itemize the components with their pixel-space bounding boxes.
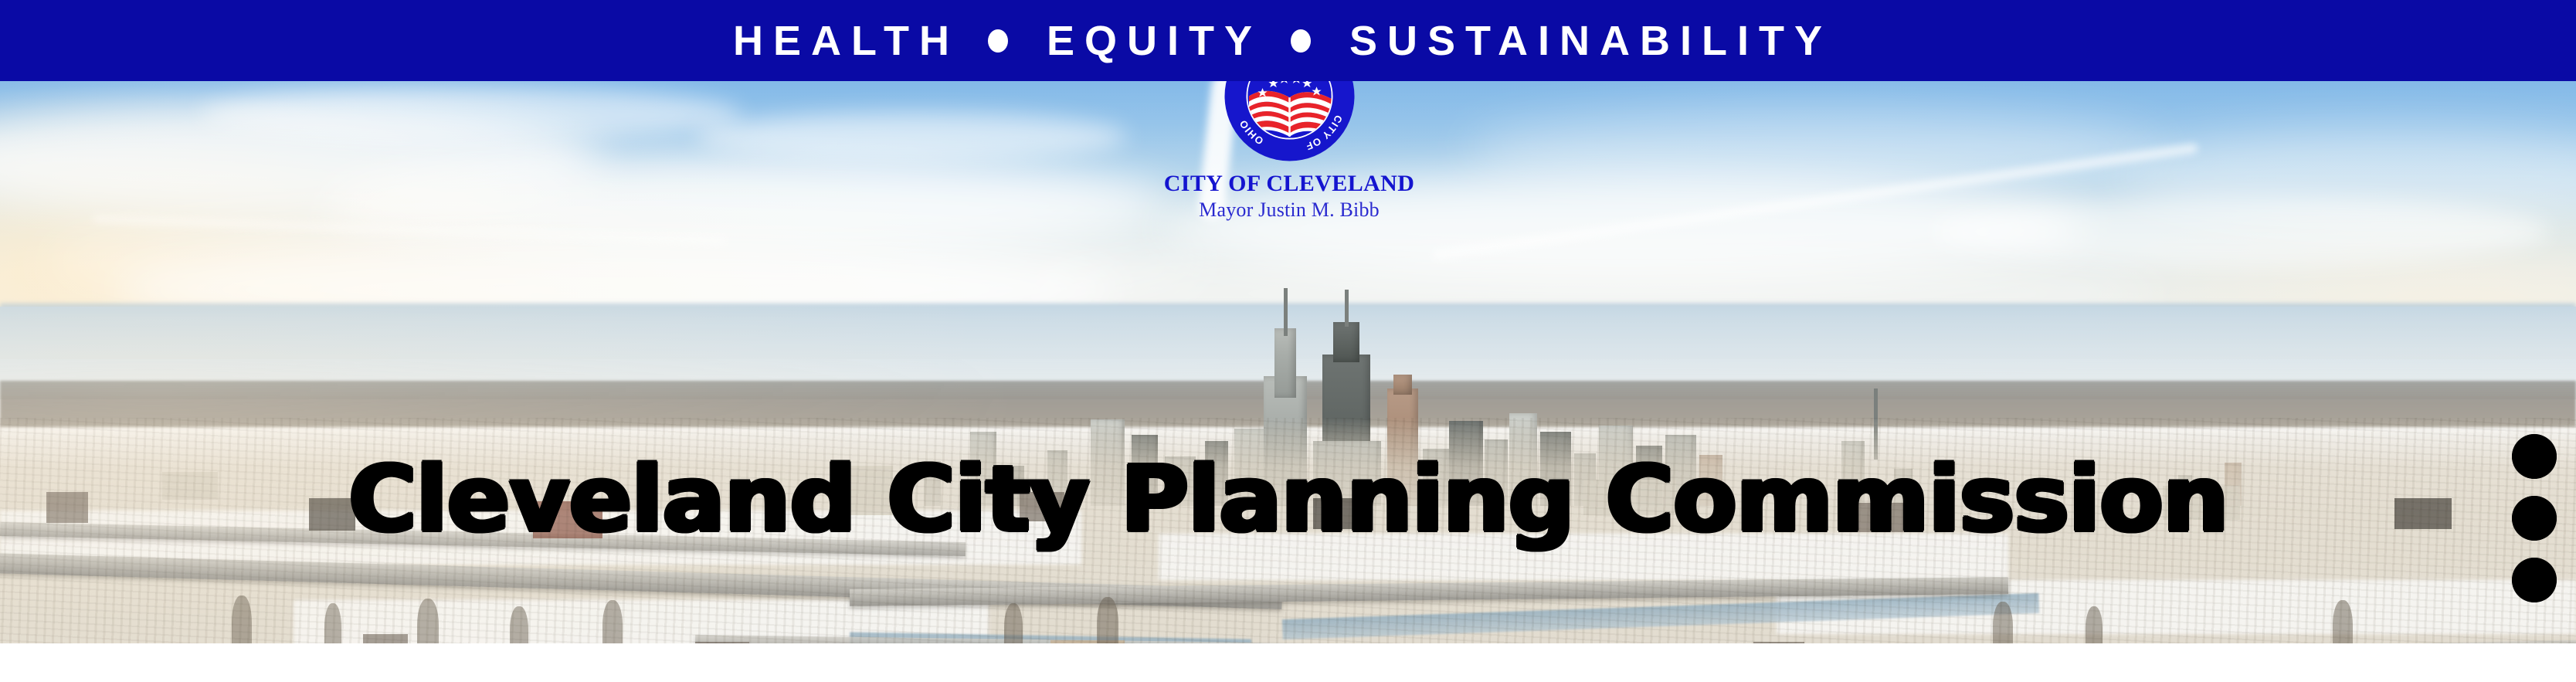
tagline-inner: HEALTH EQUITY SUSTAINABILITY (733, 20, 1832, 62)
tagline-word-equity: EQUITY (1047, 20, 1262, 62)
logo-organization-name: CITY OF CLEVELAND (1154, 171, 1424, 196)
ground-texture (0, 418, 2576, 643)
social-links-rail (2512, 434, 2557, 602)
youtube-icon[interactable] (2512, 434, 2557, 479)
logo-mayor-name: Mayor Justin M. Bibb (1154, 199, 1424, 220)
facebook-icon[interactable] (2512, 558, 2557, 602)
page-root: HEALTH EQUITY SUSTAINABILITY (0, 0, 2576, 682)
tagline-bar: HEALTH EQUITY SUSTAINABILITY (0, 0, 2576, 81)
tagline-separator-dot-1 (988, 29, 1008, 53)
tagline-separator-dot-2 (1291, 29, 1311, 53)
tagline-word-health: HEALTH (733, 20, 959, 62)
instagram-icon[interactable] (2512, 496, 2557, 541)
foreground-neighborhoods (0, 418, 2576, 643)
page-bottom-whitespace (0, 643, 2576, 682)
tagline-word-sustainability: SUSTAINABILITY (1349, 20, 1832, 62)
